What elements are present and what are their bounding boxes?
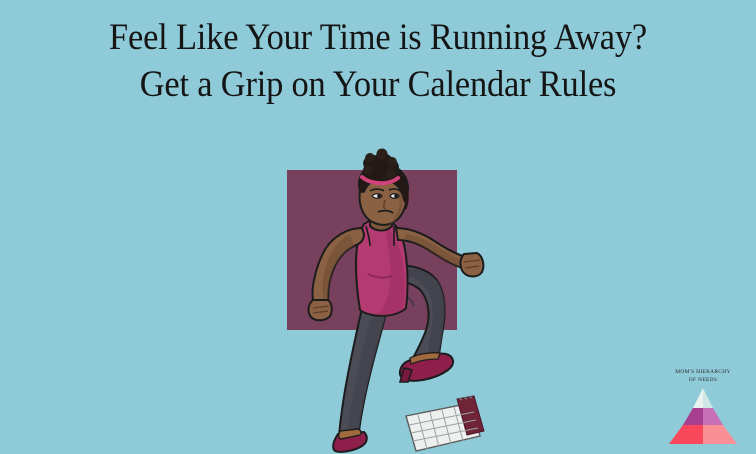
pyramid-bottom-left-face <box>669 425 703 444</box>
hair-bun-puff-1 <box>365 153 375 163</box>
hair-bun-puff-4 <box>363 165 373 175</box>
hair-bun-puff-3 <box>387 157 397 167</box>
calendar-on-ground <box>406 396 484 451</box>
hair-bun-puff-2 <box>377 149 388 160</box>
logo-line-2: of Needs <box>662 376 744 384</box>
pyramid-top-left-face <box>693 388 703 408</box>
logo-wordmark: Mom's Hierarchy of Needs <box>662 368 744 385</box>
headline-line-1: Feel Like Your Time is Running Away? <box>26 14 729 61</box>
page-title: Feel Like Your Time is Running Away? Get… <box>0 14 756 109</box>
pupil-right <box>394 194 398 198</box>
pupil-left <box>377 194 381 198</box>
pyramid-top-right-face <box>703 388 713 408</box>
logo-line-1: Mom's Hierarchy <box>662 368 744 376</box>
illustration-woman-running <box>258 148 508 454</box>
pyramid-middle-left-face <box>683 408 703 425</box>
promotional-graphic: Feel Like Your Time is Running Away? Get… <box>0 0 756 454</box>
left-fist <box>309 300 332 320</box>
brand-logo[interactable]: Mom's Hierarchy of Needs <box>662 368 744 446</box>
hair-bun-puff-5 <box>386 169 396 179</box>
pyramid-icon <box>669 388 737 444</box>
headline-line-2: Get a Grip on Your Calendar Rules <box>26 61 729 108</box>
pyramid-middle-right-face <box>703 408 723 425</box>
pyramid-bottom-right-face <box>703 425 737 444</box>
right-hand <box>460 253 483 277</box>
